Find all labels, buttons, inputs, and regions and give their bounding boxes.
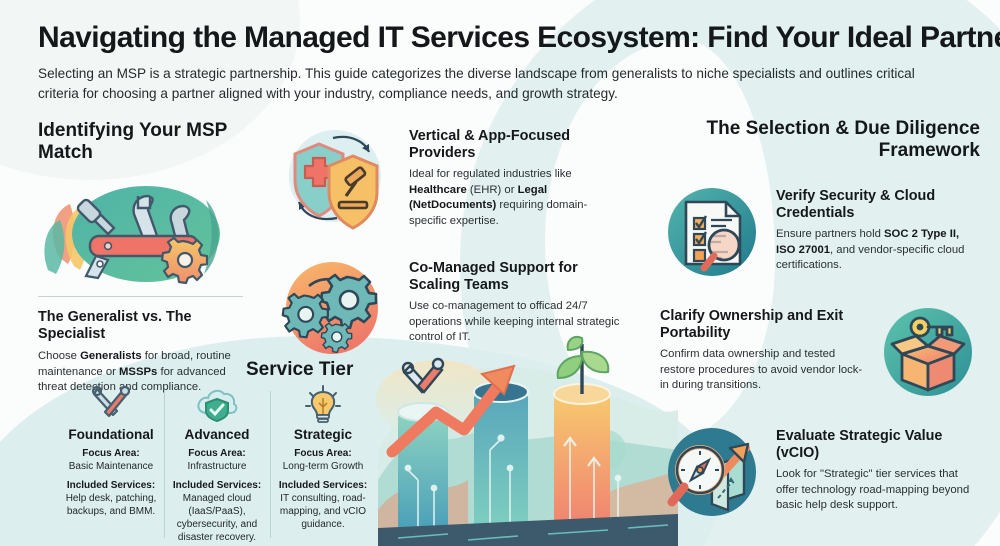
tier-focus-value-2: Long-term Growth xyxy=(275,460,371,473)
page-title: Navigating the Managed IT Services Ecosy… xyxy=(38,22,968,54)
shields-medical-cross-gavel-icon xyxy=(277,122,395,230)
clarify-ownership-body: Confirm data ownership and tested restor… xyxy=(660,347,864,394)
tier-services-value-1: Managed cloud (IaaS/PaaS), cybersecurity… xyxy=(169,492,265,544)
open-box-key-icon xyxy=(876,302,980,402)
tier-focus-value-1: Infrastructure xyxy=(169,460,265,473)
right-item-evaluate-strategic: Evaluate Strategic Value (vCIO) Look for… xyxy=(660,422,980,522)
clarify-ownership-title: Clarify Ownership and Exit Portability xyxy=(660,308,864,342)
service-tier-panel: Foundational Focus Area: Basic Maintenan… xyxy=(58,383,376,546)
right-item-clarify-ownership: Clarify Ownership and Exit Portability C… xyxy=(660,302,980,402)
service-tier-strategic: Strategic Focus Area: Long-term Growth I… xyxy=(270,383,376,546)
checklist-magnifier-icon xyxy=(660,182,764,282)
tier-focus-value-0: Basic Maintenance xyxy=(63,460,159,473)
service-tier-advanced: Advanced Focus Area: Infrastructure Incl… xyxy=(164,383,270,546)
header: Navigating the Managed IT Services Ecosy… xyxy=(38,22,968,103)
page-subtitle: Selecting an MSP is a strategic partners… xyxy=(38,64,943,103)
tier-services-value-0: Help desk, patching, backups, and BMM. xyxy=(63,492,159,518)
right-item-verify-security: Verify Security & Cloud Credentials Ensu… xyxy=(660,182,980,282)
co-managed-body: Use co-management to officad 24/7 operat… xyxy=(409,299,622,346)
left-column-divider xyxy=(38,296,243,297)
tier-focus-label-2: Focus Area: xyxy=(275,447,371,460)
evaluate-strategic-body: Look for "Strategic" tier services that … xyxy=(776,467,980,514)
right-column-heading: The Selection & Due Diligence Framework xyxy=(660,118,980,162)
cloud-shield-check-icon xyxy=(169,383,265,425)
lightbulb-idea-icon xyxy=(275,383,371,425)
right-column: The Selection & Due Diligence Framework xyxy=(660,118,980,542)
service-tier-heading: Service Tier xyxy=(246,359,353,381)
verify-security-text: Verify Security & Cloud Credentials Ensu… xyxy=(776,182,980,274)
left-column: Identifying Your MSP Match xyxy=(38,120,253,396)
evaluate-strategic-text: Evaluate Strategic Value (vCIO) Look for… xyxy=(776,422,980,514)
generalist-vs-specialist-title: The Generalist vs. The Specialist xyxy=(38,309,253,343)
middle-column: Vertical & App-Focused Providers Ideal f… xyxy=(277,122,622,386)
tier-services-label-0: Included Services: xyxy=(63,479,159,492)
middle-item-vertical-providers: Vertical & App-Focused Providers Ideal f… xyxy=(277,122,622,230)
infographic-canvas: Navigating the Managed IT Services Ecosy… xyxy=(0,0,1000,546)
middle-item-co-managed: Co-Managed Support for Scaling Teams Use… xyxy=(277,254,622,362)
co-managed-title: Co-Managed Support for Scaling Teams xyxy=(409,260,622,294)
tier-services-label-1: Included Services: xyxy=(169,479,265,492)
vertical-providers-text: Vertical & App-Focused Providers Ideal f… xyxy=(409,122,622,229)
service-tier-foundational: Foundational Focus Area: Basic Maintenan… xyxy=(58,383,164,546)
verify-security-body: Ensure partners hold SOC 2 Type II, ISO … xyxy=(776,227,980,274)
tier-name-strategic: Strategic xyxy=(275,427,371,442)
tier-name-advanced: Advanced xyxy=(169,427,265,442)
tier-services-value-2: IT consulting, road-mapping, and vCIO gu… xyxy=(275,492,371,531)
wrench-screwdriver-cross-icon xyxy=(63,383,159,425)
left-column-heading: Identifying Your MSP Match xyxy=(38,120,253,164)
tier-focus-label-0: Focus Area: xyxy=(63,447,159,460)
vertical-providers-title: Vertical & App-Focused Providers xyxy=(409,128,622,162)
compass-map-arrow-icon xyxy=(660,422,764,522)
evaluate-strategic-title: Evaluate Strategic Value (vCIO) xyxy=(776,428,980,462)
tier-services-label-2: Included Services: xyxy=(275,479,371,492)
vertical-providers-body: Ideal for regulated industries like Heal… xyxy=(409,167,622,229)
gears-cogs-icon xyxy=(277,254,395,362)
tier-focus-label-1: Focus Area: xyxy=(169,447,265,460)
multitool-wrench-screwdriver-gear-icon xyxy=(38,178,243,290)
verify-security-title: Verify Security & Cloud Credentials xyxy=(776,188,980,222)
clarify-ownership-text: Clarify Ownership and Exit Portability C… xyxy=(660,302,864,394)
co-managed-text: Co-Managed Support for Scaling Teams Use… xyxy=(409,254,622,346)
tier-name-foundational: Foundational xyxy=(63,427,159,442)
